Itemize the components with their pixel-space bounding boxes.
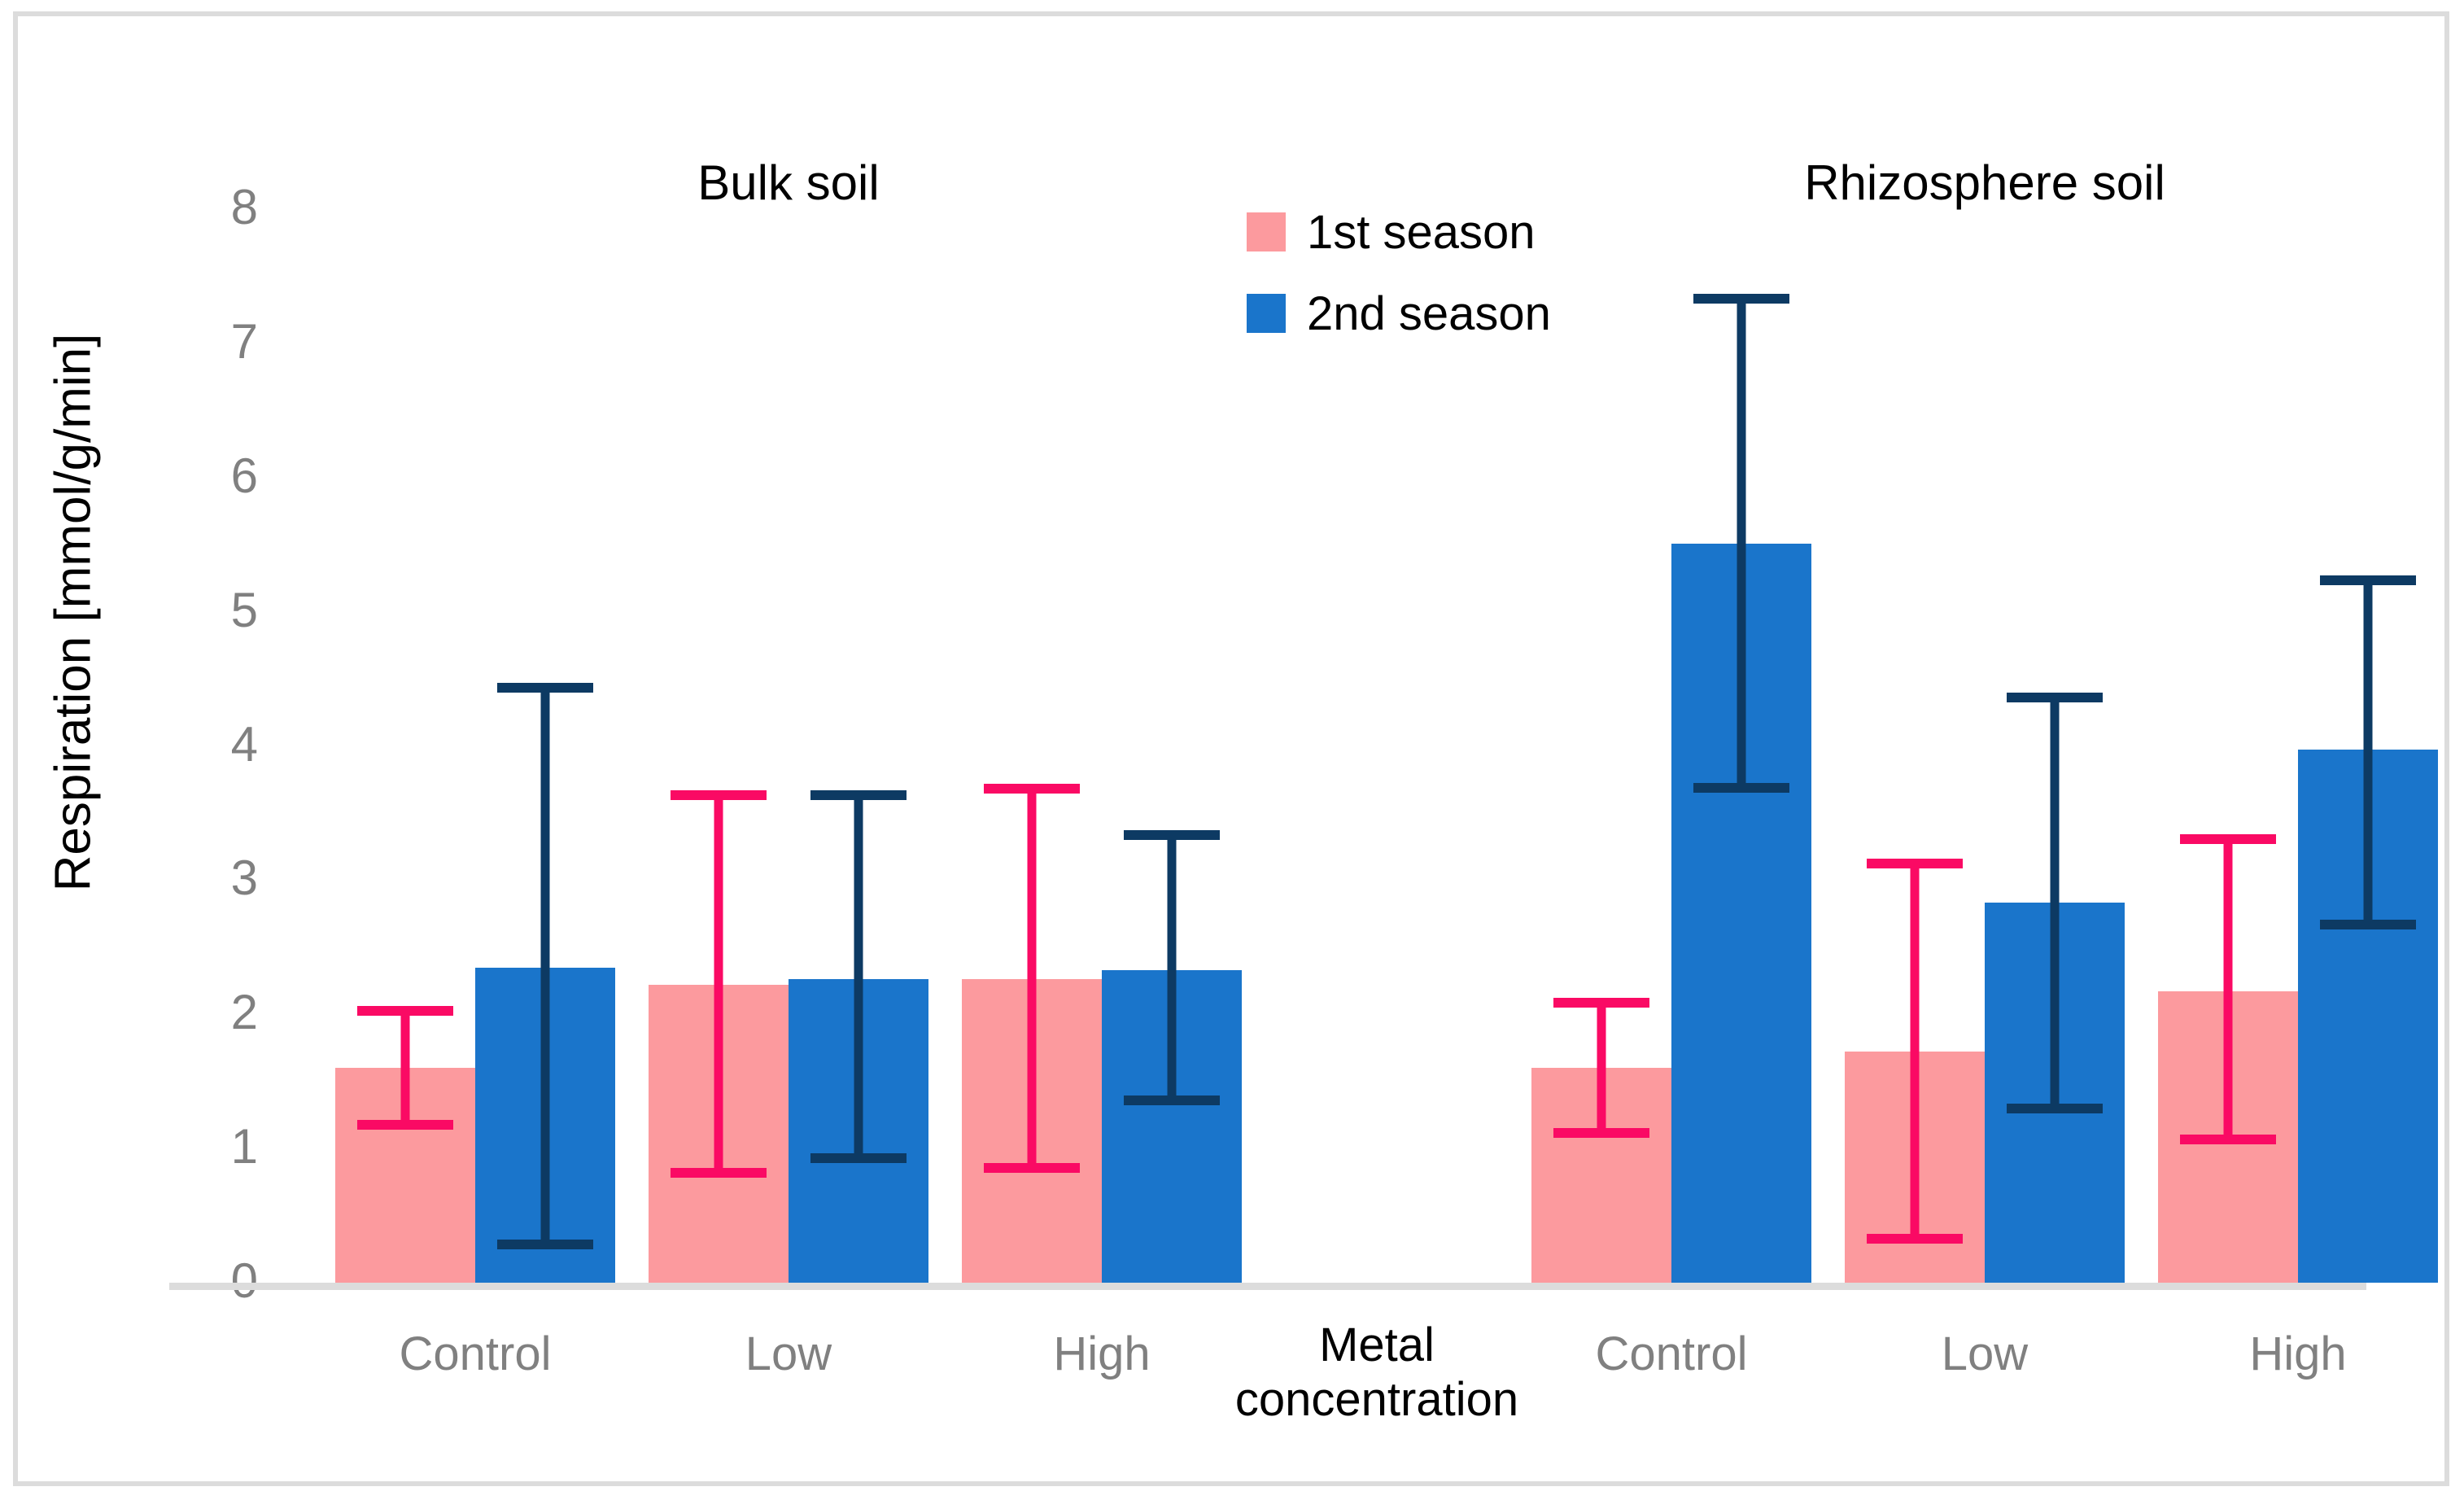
- error-stem: [854, 790, 863, 1163]
- error-cap-bottom: [1124, 1095, 1220, 1105]
- error-stem: [541, 683, 550, 1249]
- chart-frame: Respiration [mmol/g/min] 012345678 Bulk …: [13, 11, 2449, 1486]
- error-cap-bottom: [497, 1240, 593, 1249]
- error-bar-s2: [2320, 575, 2416, 929]
- error-cap-bottom: [2007, 1104, 2103, 1113]
- error-cap-bottom: [810, 1153, 907, 1163]
- error-bar-s1: [671, 790, 767, 1178]
- error-stem: [1597, 998, 1606, 1137]
- error-cap-bottom: [984, 1163, 1080, 1173]
- error-bar-s2: [810, 790, 907, 1163]
- x-axis-title-line1: Metal: [1149, 1319, 1605, 1373]
- error-stem: [1737, 294, 1746, 793]
- error-bar-s2: [2007, 693, 2103, 1114]
- error-stem: [714, 790, 723, 1178]
- error-cap-bottom: [2180, 1135, 2276, 1144]
- error-bar-s2: [1693, 294, 1789, 793]
- error-cap-bottom: [1693, 783, 1789, 793]
- plot-area: Respiration [mmol/g/min] 012345678 Bulk …: [18, 16, 2454, 1491]
- x-axis-title: Metal concentration: [1149, 1319, 1605, 1427]
- error-bar-s1: [1553, 998, 1649, 1137]
- error-stem: [1028, 784, 1037, 1173]
- error-bar-s2: [497, 683, 593, 1249]
- x-tick-label: Low: [626, 1327, 951, 1381]
- error-stem: [1168, 830, 1177, 1105]
- error-cap-bottom: [671, 1168, 767, 1178]
- x-tick-label: Low: [1822, 1327, 2147, 1381]
- error-bar-s1: [1867, 859, 1963, 1244]
- x-axis-title-line2: concentration: [1149, 1373, 1605, 1428]
- error-stem: [2224, 834, 2233, 1144]
- error-stem: [1911, 859, 1920, 1244]
- error-cap-bottom: [1553, 1128, 1649, 1138]
- error-bar-s1: [984, 784, 1080, 1173]
- error-stem: [2364, 575, 2373, 929]
- error-cap-bottom: [1867, 1234, 1963, 1244]
- x-axis-line: [169, 1283, 2366, 1290]
- error-stem: [401, 1006, 410, 1130]
- error-bar-s1: [2180, 834, 2276, 1144]
- error-cap-bottom: [357, 1120, 453, 1130]
- bars-layer: [18, 16, 2454, 1283]
- x-tick-label: Control: [312, 1327, 638, 1381]
- error-stem: [2051, 693, 2060, 1114]
- error-bar-s1: [357, 1006, 453, 1130]
- error-cap-bottom: [2320, 920, 2416, 929]
- error-bar-s2: [1124, 830, 1220, 1105]
- x-tick-label: High: [2135, 1327, 2461, 1381]
